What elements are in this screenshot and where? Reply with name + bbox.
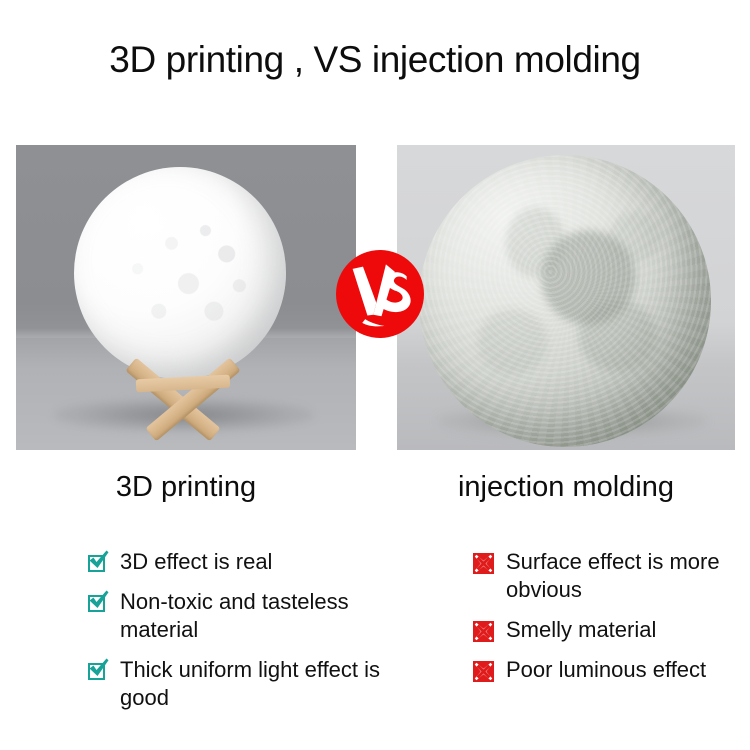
x-box-icon	[472, 658, 498, 684]
list-item: Thick uniform light effect is good	[86, 656, 386, 712]
molded-sphere	[419, 155, 711, 447]
list-item: 3D effect is real	[86, 548, 386, 576]
list-item-label: Thick uniform light effect is good	[120, 656, 386, 712]
page-title: 3D printing , VS injection molding	[0, 38, 750, 82]
list-item-label: Non-toxic and tasteless material	[120, 588, 386, 644]
moon-lamp-sphere	[74, 167, 286, 379]
product-photo-injection-molding	[397, 145, 735, 450]
check-box-icon	[86, 658, 112, 684]
stand-leg-left	[125, 358, 220, 442]
check-box-icon	[86, 590, 112, 616]
wooden-stand	[112, 363, 252, 439]
product-photo-3d-printing	[16, 145, 356, 450]
list-item-label: 3D effect is real	[120, 548, 272, 576]
list-item-label: Smelly material	[506, 616, 656, 644]
list-item: Smelly material	[472, 616, 750, 644]
list-item-label: Surface effect is more obvious	[506, 548, 750, 604]
vs-badge	[336, 250, 424, 338]
list-item: Surface effect is more obvious	[472, 548, 750, 604]
drawbacks-list-injection-molding: Surface effect is more obvious Smelly ma…	[472, 548, 750, 696]
x-box-icon	[472, 618, 498, 644]
caption-3d-printing: 3D printing	[16, 470, 356, 504]
check-box-icon	[86, 550, 112, 576]
list-item: Non-toxic and tasteless material	[86, 588, 386, 644]
x-box-icon	[472, 550, 498, 576]
caption-injection-molding: injection molding	[397, 470, 735, 504]
benefits-list-3d-printing: 3D effect is real Non-toxic and tasteles…	[86, 548, 386, 724]
vs-letters-icon	[343, 257, 417, 331]
list-item-label: Poor luminous effect	[506, 656, 706, 684]
list-item: Poor luminous effect	[472, 656, 750, 684]
